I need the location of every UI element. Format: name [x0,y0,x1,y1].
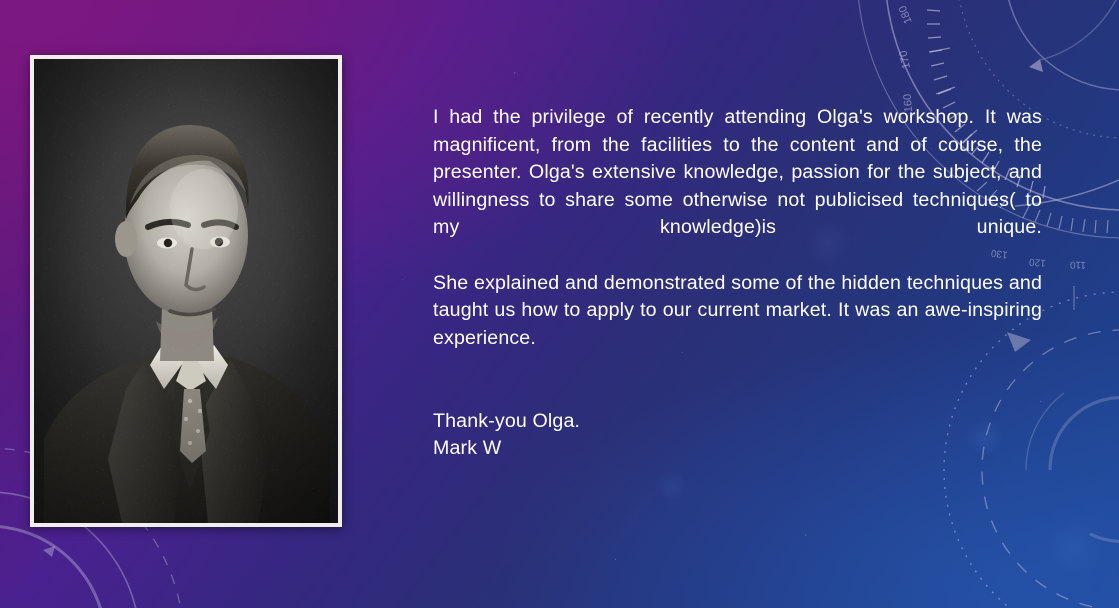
svg-text:180: 180 [897,4,915,26]
paragraph-spacer [433,380,1042,408]
testimonial-paragraph-2: She explained and demonstrated some of t… [433,270,1042,380]
svg-text:110: 110 [1069,259,1086,270]
portrait-photo-frame [30,55,342,527]
portrait-photo [34,59,338,523]
svg-text:170: 170 [897,49,913,69]
arrowhead-icon-3 [43,546,55,557]
arrowhead-icon [1029,59,1043,72]
testimonial-text-block: I had the privilege of recently attendin… [433,104,1042,463]
testimonial-signature: Mark W [433,435,1042,463]
testimonial-closing: Thank-you Olga. [433,408,1042,436]
presentation-slide: 180 170 160 130 120 110 [0,0,1119,608]
testimonial-paragraph-1: I had the privilege of recently attendin… [433,104,1042,270]
